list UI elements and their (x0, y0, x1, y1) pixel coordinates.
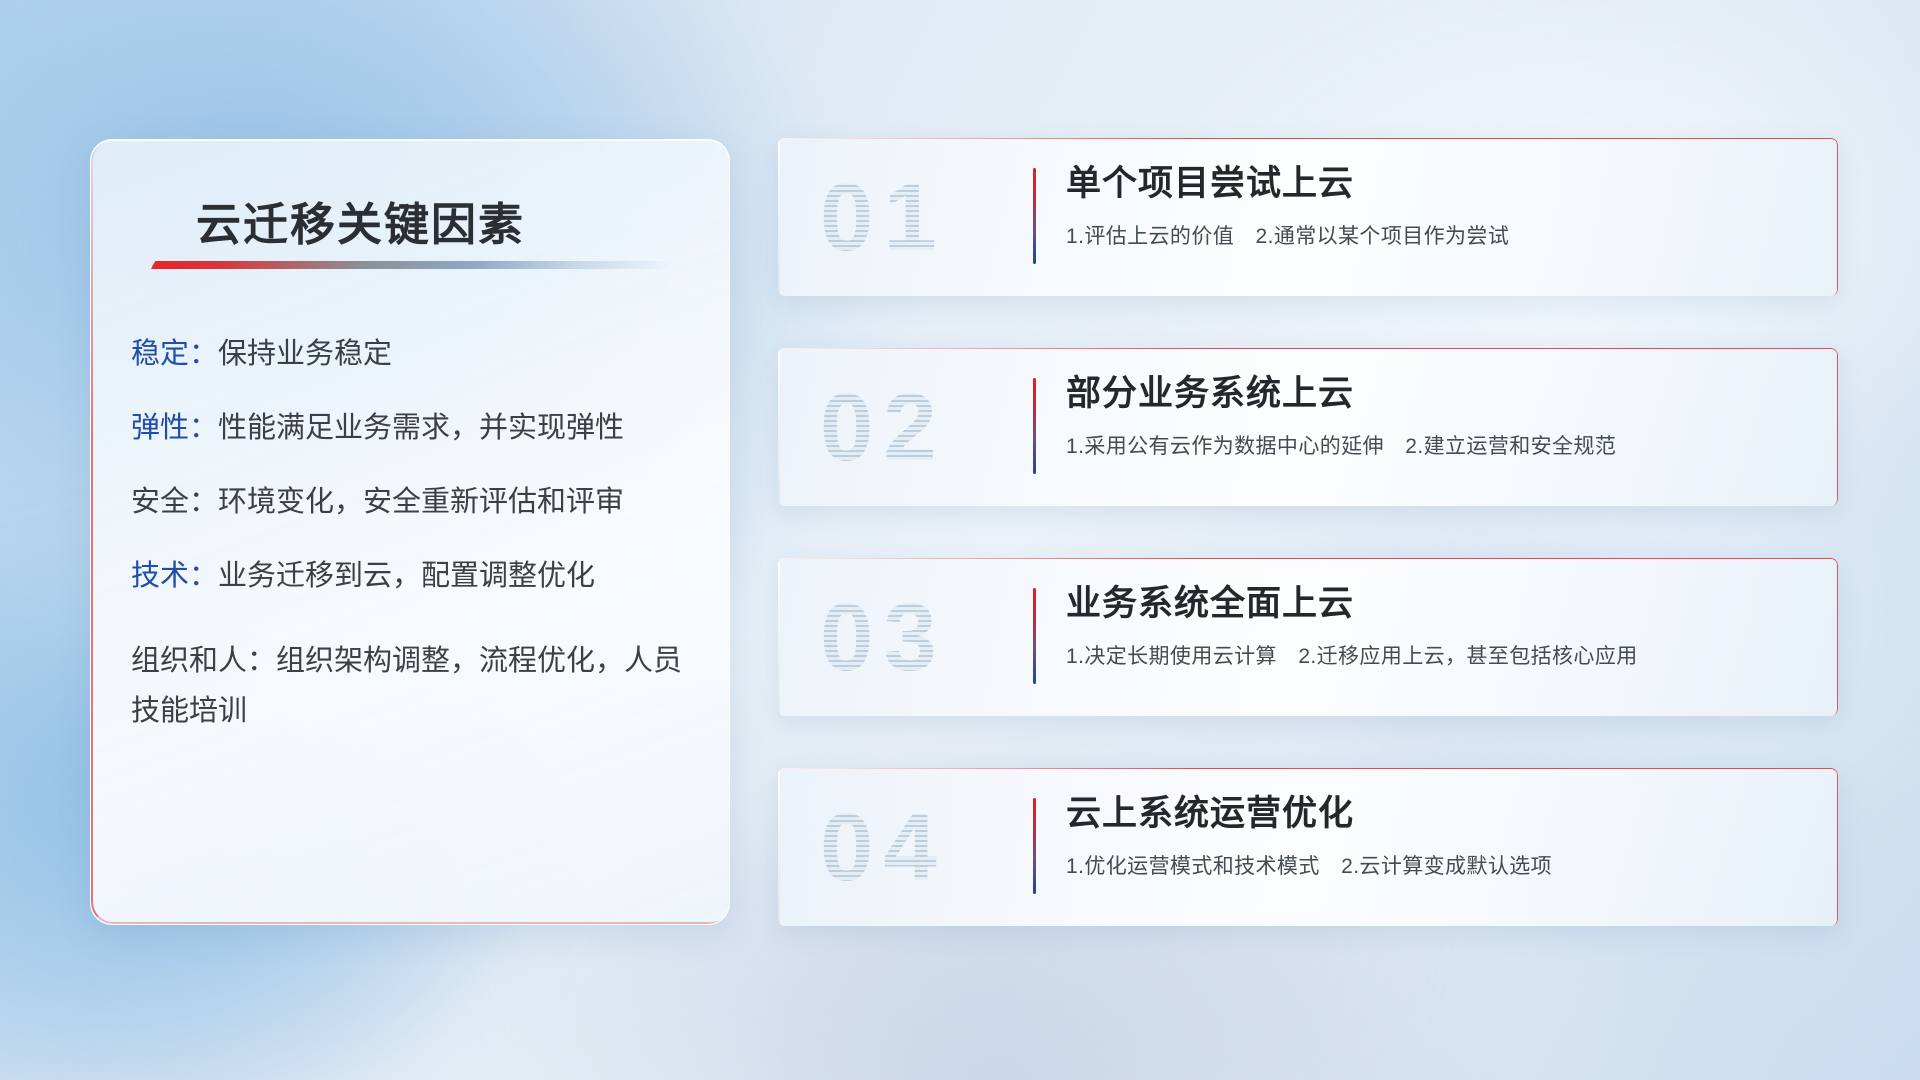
factor-list: 稳定：保持业务稳定 弹性：性能满足业务需求，并实现弹性 安全：环境变化，安全重新… (91, 340, 729, 782)
stage-card-description: 1.评估上云的价值 2.通常以某个项目作为尝试 (1066, 220, 1812, 250)
title-underline-accent (151, 261, 675, 269)
stage-card-04[interactable]: 04 04 云上系统运营优化 1.优化运营模式和技术模式 2.云计算变成默认选项 (778, 768, 1838, 926)
stage-card-01[interactable]: 01 01 单个项目尝试上云 1.评估上云的价值 2.通常以某个项目作为尝试 (778, 138, 1838, 296)
factor-text: 保持业务稳定 (218, 338, 392, 370)
stage-card-description: 1.决定长期使用云计算 2.迁移应用上云，甚至包括核心应用 (1066, 640, 1812, 670)
accent-bar (1033, 588, 1036, 684)
factor-item-organization: 组织和人：组织架构调整，流程优化，人员技能培训 (131, 636, 683, 737)
key-factors-panel: 云迁移关键因素 稳定：保持业务稳定 弹性：性能满足业务需求，并实现弹性 安全：环… (90, 139, 730, 925)
factor-item-stability: 稳定：保持业务稳定 (131, 340, 683, 369)
stage-card-body: 部分业务系统上云 1.采用公有云作为数据中心的延伸 2.建立运营和安全规范 (1066, 372, 1812, 460)
factor-item-elasticity: 弹性：性能满足业务需求，并实现弹性 (131, 414, 683, 443)
stage-card-title: 单个项目尝试上云 (1066, 162, 1812, 207)
stage-number: 04 (820, 790, 1050, 906)
stage-number: 02 (820, 370, 1050, 486)
stage-card-03[interactable]: 03 03 业务系统全面上云 1.决定长期使用云计算 2.迁移应用上云，甚至包括… (778, 558, 1838, 716)
factor-label: 稳定： (131, 338, 218, 370)
accent-bar (1033, 378, 1036, 474)
stage-number: 03 (820, 580, 1050, 696)
stage-card-list: 01 01 单个项目尝试上云 1.评估上云的价值 2.通常以某个项目作为尝试 0… (778, 138, 1838, 978)
factor-text: 性能满足业务需求，并实现弹性 (218, 412, 624, 444)
stage-card-body: 云上系统运营优化 1.优化运营模式和技术模式 2.云计算变成默认选项 (1066, 792, 1812, 880)
accent-bar (1033, 798, 1036, 894)
factor-text: 业务迁移到云，配置调整优化 (218, 560, 595, 592)
page-title: 云迁移关键因素 (196, 188, 525, 253)
stage-card-title: 部分业务系统上云 (1066, 372, 1812, 417)
factor-item-security: 安全：环境变化，安全重新评估和评审 (131, 488, 683, 517)
factor-label: 安全： (131, 486, 218, 518)
slide-stage: 云迁移关键因素 稳定：保持业务稳定 弹性：性能满足业务需求，并实现弹性 安全：环… (0, 0, 1920, 1080)
stage-card-02[interactable]: 02 02 部分业务系统上云 1.采用公有云作为数据中心的延伸 2.建立运营和安… (778, 348, 1838, 506)
stage-card-description: 1.优化运营模式和技术模式 2.云计算变成默认选项 (1066, 850, 1812, 880)
stage-card-body: 单个项目尝试上云 1.评估上云的价值 2.通常以某个项目作为尝试 (1066, 162, 1812, 250)
stage-number: 01 (820, 160, 1050, 276)
factor-label: 弹性： (131, 412, 218, 444)
stage-card-title: 业务系统全面上云 (1066, 582, 1812, 627)
accent-bar (1033, 168, 1036, 264)
stage-card-body: 业务系统全面上云 1.决定长期使用云计算 2.迁移应用上云，甚至包括核心应用 (1066, 582, 1812, 670)
stage-card-title: 云上系统运营优化 (1066, 792, 1812, 837)
stage-card-description: 1.采用公有云作为数据中心的延伸 2.建立运营和安全规范 (1066, 430, 1812, 460)
factor-text: 环境变化，安全重新评估和评审 (218, 486, 624, 518)
factor-item-technology: 技术：业务迁移到云，配置调整优化 (131, 562, 683, 591)
factor-label: 技术： (131, 560, 218, 592)
factor-label: 组织和人： (131, 645, 276, 677)
